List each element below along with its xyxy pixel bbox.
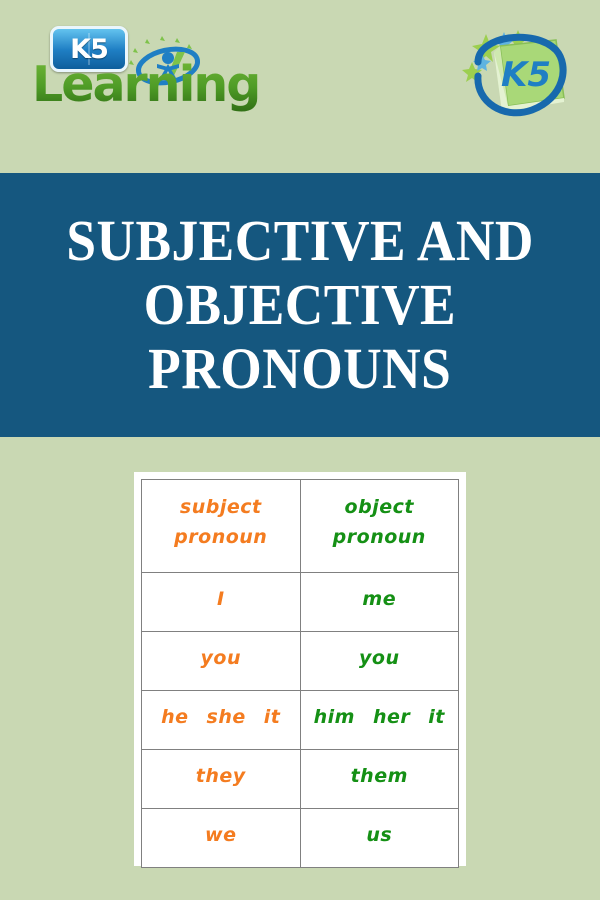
cell-object-2: you [300, 632, 459, 691]
object-pronoun-3a: him [305, 702, 364, 732]
object-pronoun-group-3: himherit [301, 691, 459, 736]
object-pronoun-3c: it [419, 702, 454, 732]
pronoun-table: subject pronoun object pronoun I [141, 479, 459, 868]
object-pronoun-5: us [301, 809, 459, 854]
cell-subject-4: they [142, 750, 301, 809]
header-subject-line-2: pronoun [142, 522, 300, 552]
subject-pronoun-3b: she [198, 702, 255, 732]
object-pronoun-4: them [301, 750, 459, 795]
header-bar: K5 Learning [0, 0, 600, 173]
cell-object-3: himherit [300, 691, 459, 750]
subject-pronoun-1: I [142, 573, 300, 618]
cell-object-4: them [300, 750, 459, 809]
header-cell-subject: subject pronoun [142, 480, 301, 573]
table-row: I me [142, 573, 459, 632]
cell-subject-1: I [142, 573, 301, 632]
subject-pronoun-5: we [142, 809, 300, 854]
subject-pronoun-4: they [142, 750, 300, 795]
object-pronoun-1: me [301, 573, 459, 618]
title-line-1: SUBJECTIVE AND [66, 209, 534, 273]
k5-learning-logo: K5 Learning [32, 26, 232, 106]
title-banner: SUBJECTIVE AND OBJECTIVE PRONOUNS [0, 173, 600, 437]
header-subject-line-1: subject [142, 492, 300, 522]
object-pronoun-3b: her [364, 702, 419, 732]
cell-subject-2: you [142, 632, 301, 691]
corner-badge-label: K5 [501, 55, 551, 95]
pronoun-table-frame: subject pronoun object pronoun I [134, 472, 466, 866]
subject-pronoun-3a: he [152, 702, 197, 732]
cell-object-1: me [300, 573, 459, 632]
title-line-3: PRONOUNS [148, 337, 451, 401]
object-pronoun-2: you [301, 632, 459, 677]
table-row: we us [142, 809, 459, 868]
learning-wordmark: Learning [32, 56, 259, 113]
title-line-2: OBJECTIVE [144, 273, 457, 337]
worksheet-poster: K5 Learning [0, 0, 600, 900]
table-header-row: subject pronoun object pronoun [142, 480, 459, 573]
header-cell-object: object pronoun [300, 480, 459, 573]
pronoun-table-body: subject pronoun object pronoun I [142, 480, 459, 868]
k5-corner-badge-icon: K5 [460, 28, 570, 120]
subject-pronoun-3c: it [255, 702, 290, 732]
table-row: you you [142, 632, 459, 691]
cell-subject-3: hesheit [142, 691, 301, 750]
subject-pronoun-2: you [142, 632, 300, 677]
header-object-line-1: object [301, 492, 459, 522]
table-row: they them [142, 750, 459, 809]
table-row: hesheit himherit [142, 691, 459, 750]
cell-subject-5: we [142, 809, 301, 868]
subject-pronoun-group-3: hesheit [142, 691, 300, 736]
cell-object-5: us [300, 809, 459, 868]
header-object-line-2: pronoun [301, 522, 459, 552]
